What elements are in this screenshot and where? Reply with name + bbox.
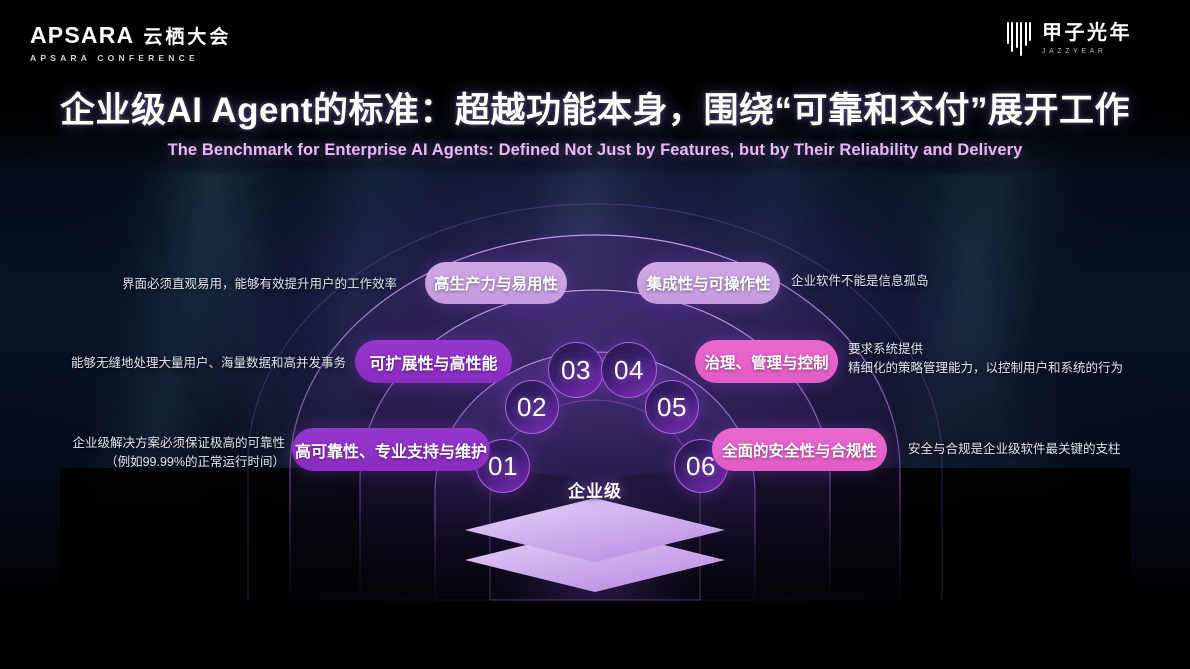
apsara-logo: APSARA云栖大会 APSARA CONFERENCE — [30, 24, 231, 63]
pill-governance-management[interactable]: 治理、管理与控制 — [695, 340, 838, 383]
pill-reliability-support[interactable]: 高可靠性、专业支持与维护 — [292, 428, 490, 471]
number-circle-03[interactable]: 03 — [548, 342, 604, 398]
vertical-bars-icon — [1007, 22, 1032, 56]
pill-security-compliance[interactable]: 全面的安全性与合规性 — [712, 428, 887, 471]
slide-title-en: The Benchmark for Enterprise AI Agents: … — [0, 141, 1190, 160]
apsara-wordmark: APSARA云栖大会 — [30, 24, 231, 47]
caption-scalability-performance: 能够无缝地处理大量用户、海量数据和高并发事务 — [71, 354, 346, 373]
caption-governance-management: 要求系统提供 精细化的策略管理能力，以控制用户和系统的行为 — [848, 340, 1123, 378]
pill-productivity-usability[interactable]: 高生产力与易用性 — [425, 262, 567, 304]
pill-integration-operability[interactable]: 集成性与可操作性 — [637, 262, 780, 304]
caption-reliability-support: 企业级解决方案必须保证极高的可靠性 （例如99.99%的正常运行时间） — [72, 434, 285, 472]
jazzyear-logo: 甲子光年 JAZZYEAR — [1007, 22, 1133, 56]
caption-security-compliance: 安全与合规是企业级软件最关键的支柱 — [908, 440, 1121, 459]
jazzyear-text: 甲子光年 JAZZYEAR — [1042, 23, 1132, 55]
stacked-diamond-graphic — [465, 498, 725, 590]
apsara-subtitle: APSARA CONFERENCE — [30, 53, 231, 63]
caption-integration-operability: 企业软件不能是信息孤岛 — [791, 272, 929, 291]
slide-root: 企业级 01 02 03 04 05 06 高生产力与易用性 集成性与可操作性 … — [0, 0, 1190, 669]
apsara-wordmark-cn: 云栖大会 — [143, 27, 231, 48]
jazzyear-name-en: JAZZYEAR — [1042, 48, 1132, 55]
core-label: 企业级 — [0, 477, 1190, 502]
pill-scalability-performance[interactable]: 可扩展性与高性能 — [355, 340, 512, 383]
number-circle-02[interactable]: 02 — [505, 380, 559, 434]
slide-title-cn: 企业级AI Agent的标准：超越功能本身，围绕“可靠和交付”展开工作 — [0, 82, 1190, 133]
apsara-wordmark-en: APSARA — [30, 22, 134, 48]
number-circle-04[interactable]: 04 — [601, 342, 657, 398]
caption-productivity-usability: 界面必须直观易用，能够有效提升用户的工作效率 — [122, 275, 397, 294]
number-circle-05[interactable]: 05 — [645, 380, 699, 434]
jazzyear-name-cn: 甲子光年 — [1042, 23, 1132, 43]
